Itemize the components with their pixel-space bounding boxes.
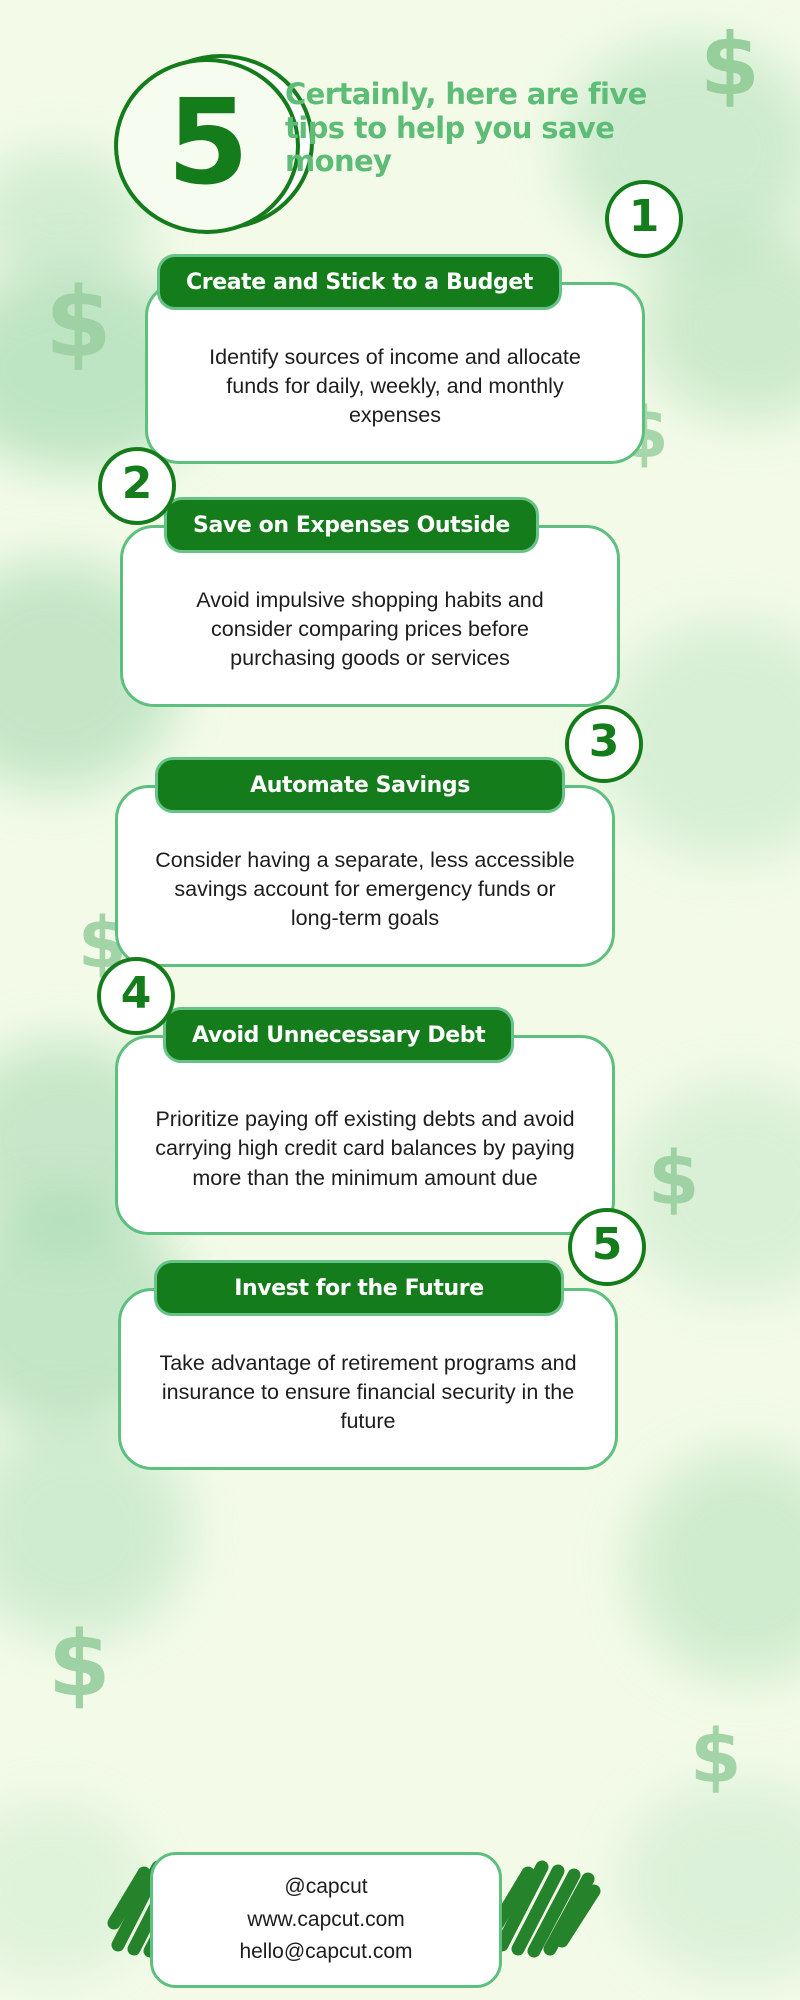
- tip-number-badge-4: 4: [97, 957, 175, 1035]
- footer-website[interactable]: www.capcut.com: [173, 1904, 479, 1937]
- tip-number-value-2: 2: [122, 462, 153, 506]
- tip-title-4: Avoid Unnecessary Debt: [192, 1023, 485, 1048]
- tip-header-3: Automate Savings: [155, 757, 565, 813]
- tip-number-badge-2: 2: [98, 447, 176, 525]
- tip-number-badge-1: 1: [605, 180, 683, 258]
- dollar-sign-decoration: $: [700, 22, 760, 108]
- tip-header-1: Create and Stick to a Budget: [157, 254, 562, 310]
- dollar-sign-decoration: $: [45, 275, 112, 371]
- tip-title-1: Create and Stick to a Budget: [186, 270, 533, 295]
- tip-title-3: Automate Savings: [250, 773, 470, 798]
- footer-handle: @capcut: [173, 1871, 479, 1904]
- tip-text-4: Prioritize paying off existing debts and…: [152, 1105, 578, 1193]
- tip-card-2: 2 Save on Expenses Outside Avoid impulsi…: [120, 525, 620, 707]
- watercolor-cloud-decoration: [620, 1780, 800, 1980]
- tip-header-2: Save on Expenses Outside: [164, 497, 539, 553]
- dollar-sign-decoration: $: [690, 1720, 742, 1794]
- tip-card-1: 1 Create and Stick to a Budget Identify …: [145, 282, 645, 464]
- page-title-line-1: Certainly, here are five: [285, 78, 705, 112]
- tip-text-5: Take advantage of retirement programs an…: [155, 1349, 581, 1437]
- watercolor-cloud-decoration: [640, 230, 800, 420]
- tip-number-badge-5: 5: [568, 1208, 646, 1286]
- watercolor-cloud-decoration: [0, 1800, 150, 1980]
- footer-email[interactable]: hello@capcut.com: [173, 1936, 479, 1969]
- tip-number-value-5: 5: [592, 1223, 623, 1267]
- tip-text-2: Avoid impulsive shopping habits and cons…: [157, 586, 583, 674]
- page-title-line-3: money: [285, 145, 705, 179]
- dollar-sign-decoration: $: [648, 1142, 700, 1216]
- watercolor-cloud-decoration: [630, 1450, 800, 1680]
- tip-number-value-3: 3: [589, 720, 620, 764]
- page-title-line-2: tips to help you save: [285, 112, 705, 146]
- tip-card-5: 5 Invest for the Future Take advantage o…: [118, 1288, 618, 1470]
- tip-header-4: Avoid Unnecessary Debt: [163, 1007, 514, 1063]
- watercolor-cloud-decoration: [620, 1080, 800, 1300]
- hero-number-value: 5: [167, 83, 247, 201]
- infographic-poster: $ $ $ $ $ $ $ 5 Certainly, here are five…: [0, 0, 800, 2000]
- hero-badge-inner-ring: 5: [114, 58, 300, 234]
- tip-number-value-4: 4: [121, 972, 152, 1016]
- tip-number-value-1: 1: [629, 195, 660, 239]
- tip-text-3: Consider having a separate, less accessi…: [152, 846, 578, 934]
- tip-title-2: Save on Expenses Outside: [193, 513, 510, 538]
- tip-title-5: Invest for the Future: [234, 1276, 483, 1301]
- tip-number-badge-3: 3: [565, 705, 643, 783]
- tip-card-3: 3 Automate Savings Consider having a sep…: [115, 785, 615, 967]
- tip-body-4: Prioritize paying off existing debts and…: [115, 1035, 615, 1235]
- tip-text-1: Identify sources of income and allocate …: [182, 343, 608, 431]
- footer-contact-card: @capcut www.capcut.com hello@capcut.com: [150, 1852, 502, 1988]
- tip-card-4: 4 Avoid Unnecessary Debt Prioritize payi…: [115, 1035, 615, 1235]
- tip-header-5: Invest for the Future: [154, 1260, 564, 1316]
- page-title: Certainly, here are five tips to help yo…: [285, 78, 705, 179]
- dollar-sign-decoration: $: [48, 1620, 111, 1710]
